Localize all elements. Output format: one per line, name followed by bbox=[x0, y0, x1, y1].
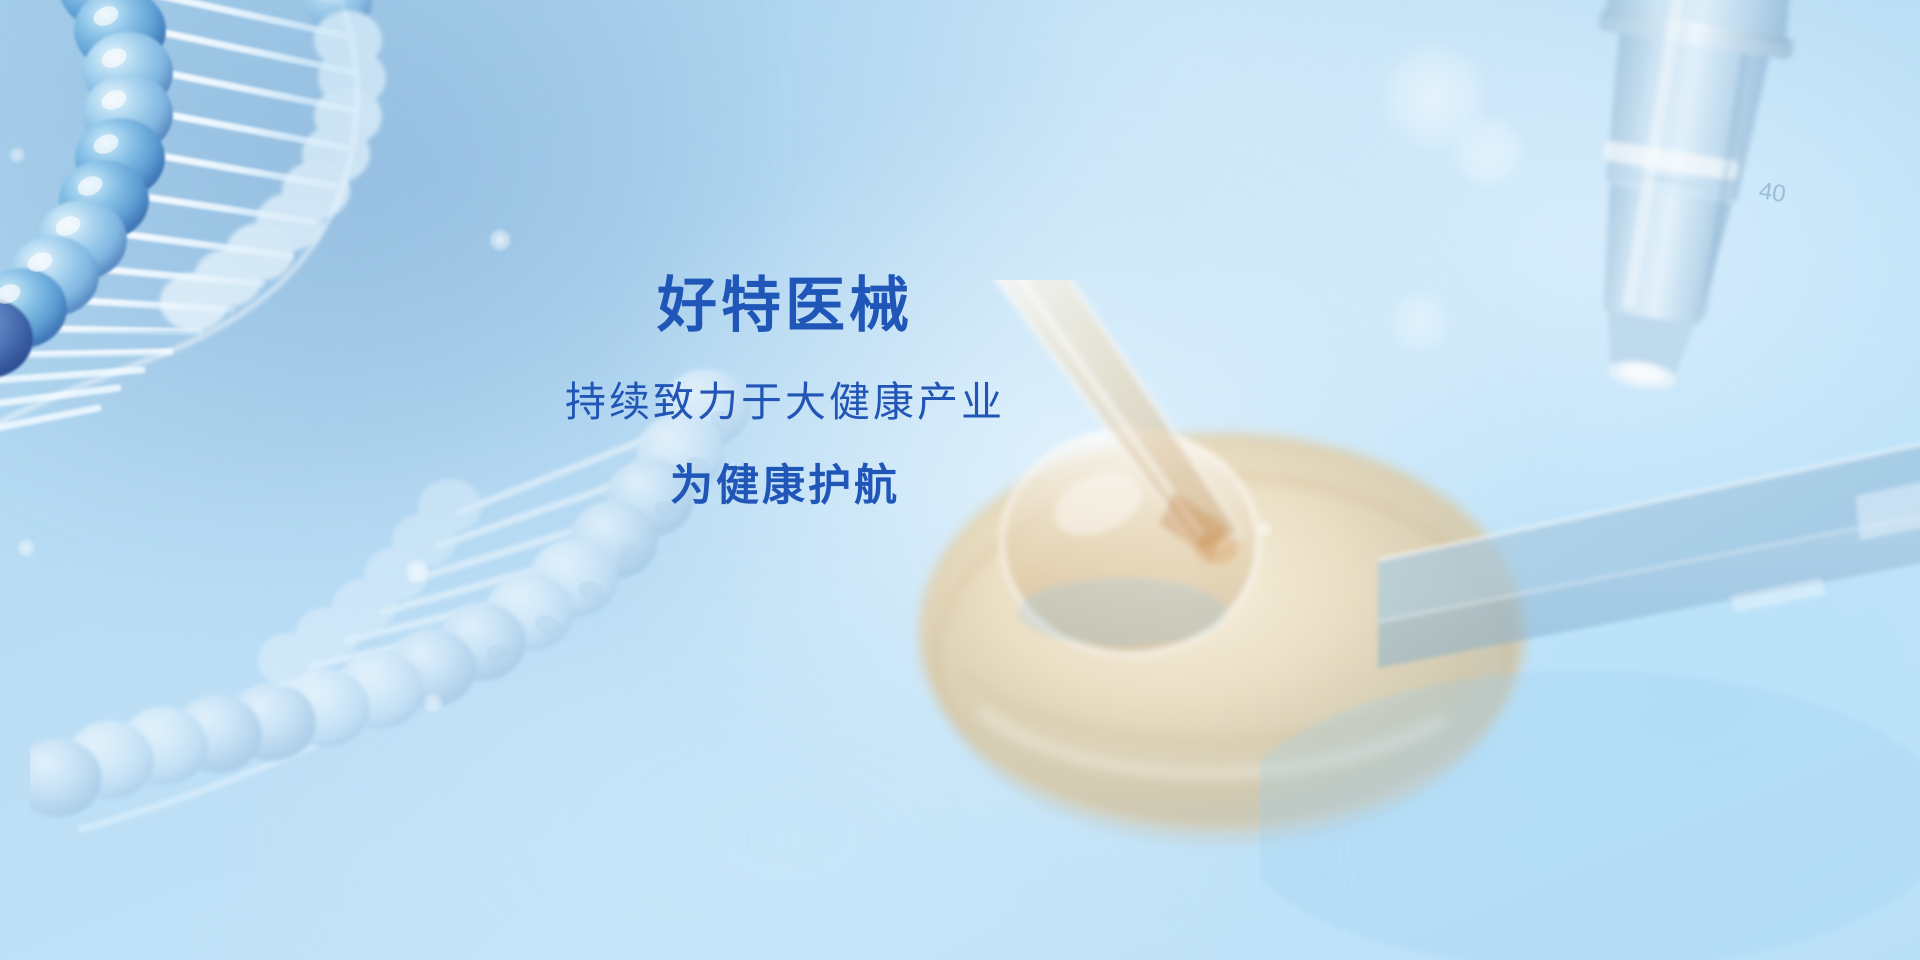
bokeh-light-5 bbox=[404, 558, 430, 584]
company-subtitle: 持续致力于大健康产业 bbox=[0, 382, 1570, 423]
bokeh-light-1 bbox=[1378, 40, 1490, 152]
bokeh-light-8 bbox=[8, 146, 26, 164]
company-tagline: 为健康护航 bbox=[0, 465, 1570, 508]
bokeh-light-2 bbox=[1450, 114, 1526, 190]
company-title: 好特医械 bbox=[0, 276, 1570, 336]
hero-banner: 40 bbox=[0, 0, 1920, 960]
bokeh-light-4 bbox=[488, 228, 512, 252]
hero-text-block: 好特医械 持续致力于大健康产业 为健康护航 bbox=[0, 276, 1570, 508]
lens-magnification-label: 40 bbox=[1757, 177, 1788, 208]
bokeh-light-6 bbox=[422, 692, 444, 714]
bokeh-light-7 bbox=[16, 538, 36, 558]
background-haze-bottom bbox=[240, 560, 1340, 960]
bokeh-light-9 bbox=[1256, 520, 1274, 538]
